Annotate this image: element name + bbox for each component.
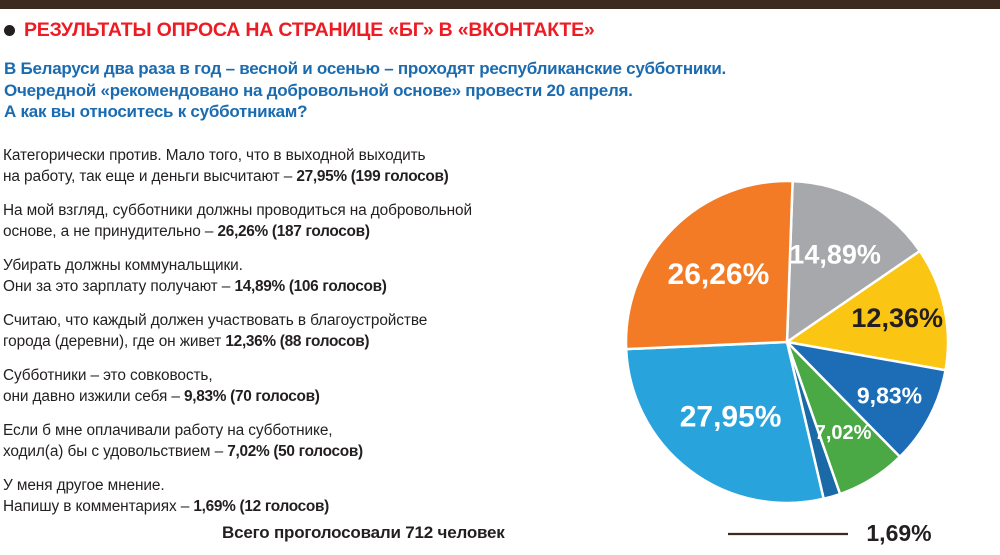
legend-item-line: Считаю, что каждый должен участвовать в … — [3, 311, 583, 332]
legend-list: Категорически против. Мало того, что в в… — [3, 146, 583, 531]
legend-item-line: Напишу в комментариях – 1,69% (12 голосо… — [3, 497, 583, 518]
total-votes-label: Всего проголосовали 712 человек — [222, 523, 505, 543]
legend-item-text: ходил(а) бы с удовольствием – — [3, 443, 227, 460]
legend-item: У меня другое мнение.Напишу в комментари… — [3, 476, 583, 517]
top-divider-rule — [0, 0, 1000, 9]
intro-line-1: В Беларуси два раза в год – весной и осе… — [4, 58, 904, 80]
pie-slice-label: 7,02% — [815, 422, 872, 444]
poll-infographic: РЕЗУЛЬТАТЫ ОПРОСА НА СТРАНИЦЕ «БГ» В «ВК… — [0, 0, 1000, 555]
legend-item-line: города (деревни), где он живет 12,36% (8… — [3, 332, 583, 353]
pie-slice-label: 27,95% — [680, 400, 782, 433]
legend-item-line: На мой взгляд, субботники должны проводи… — [3, 201, 583, 222]
legend-item-value: 9,83% (70 голосов) — [184, 388, 320, 405]
legend-item-line: Если б мне оплачивали работу на субботни… — [3, 421, 583, 442]
legend-item-line: основе, а не принудительно – 26,26% (187… — [3, 222, 583, 243]
legend-item-text: на работу, так еще и деньги высчитают – — [3, 168, 296, 185]
legend-item-line: У меня другое мнение. — [3, 476, 583, 497]
legend-item-text: основе, а не принудительно – — [3, 223, 218, 240]
legend-item: На мой взгляд, субботники должны проводи… — [3, 201, 583, 242]
legend-item: Если б мне оплачивали работу на субботни… — [3, 421, 583, 462]
legend-item: Считаю, что каждый должен участвовать в … — [3, 311, 583, 352]
legend-item-text: города (деревни), где он живет — [3, 333, 225, 350]
pie-slice-label: 9,83% — [857, 383, 922, 409]
legend-item-value: 12,36% (88 голосов) — [225, 333, 369, 350]
legend-item-value: 26,26% (187 голосов) — [218, 223, 370, 240]
pie-slice-label: 26,26% — [668, 258, 770, 291]
legend-item-line: Категорически против. Мало того, что в в… — [3, 146, 583, 167]
legend-item-text: они давно изжили себя – — [3, 388, 184, 405]
bullet-dot-icon — [4, 25, 15, 36]
pie-slice-label: 12,36% — [851, 303, 943, 333]
legend-item-line: на работу, так еще и деньги высчитают – … — [3, 167, 583, 188]
headline-text: РЕЗУЛЬТАТЫ ОПРОСА НА СТРАНИЦЕ «БГ» В «ВК… — [24, 19, 595, 42]
intro-paragraph: В Беларуси два раза в год – весной и осе… — [4, 58, 904, 123]
legend-item-value: 14,89% (106 голосов) — [234, 278, 386, 295]
legend-item-line: ходил(а) бы с удовольствием – 7,02% (50 … — [3, 442, 583, 463]
legend-item-text: Напишу в комментариях – — [3, 498, 193, 515]
legend-item-line: они давно изжили себя – 9,83% (70 голосо… — [3, 387, 583, 408]
pie-chart-svg: 14,89%12,36%9,83%7,02%1,69%27,95%26,26% — [596, 122, 1000, 555]
intro-line-2: Очередной «рекомендовано на добровольной… — [4, 80, 904, 102]
legend-item-value: 7,02% (50 голосов) — [227, 443, 363, 460]
intro-line-3: А как вы относитесь к субботникам? — [4, 101, 904, 123]
pie-slice-label: 1,69% — [866, 520, 931, 546]
pie-chart: 14,89%12,36%9,83%7,02%1,69%27,95%26,26% — [596, 122, 1000, 555]
legend-item: Категорически против. Мало того, что в в… — [3, 146, 583, 187]
pie-slice-label: 14,89% — [789, 239, 881, 269]
legend-item-text: Они за это зарплату получают – — [3, 278, 234, 295]
legend-item-line: Субботники – это совковость, — [3, 366, 583, 387]
legend-item-line: Они за это зарплату получают – 14,89% (1… — [3, 277, 583, 298]
legend-item-line: Убирать должны коммунальщики. — [3, 256, 583, 277]
legend-item-value: 27,95% (199 голосов) — [296, 168, 448, 185]
headline: РЕЗУЛЬТАТЫ ОПРОСА НА СТРАНИЦЕ «БГ» В «ВК… — [4, 19, 595, 42]
legend-item: Субботники – это совковость,они давно из… — [3, 366, 583, 407]
legend-item: Убирать должны коммунальщики.Они за это … — [3, 256, 583, 297]
legend-item-value: 1,69% (12 голосов) — [193, 498, 329, 515]
